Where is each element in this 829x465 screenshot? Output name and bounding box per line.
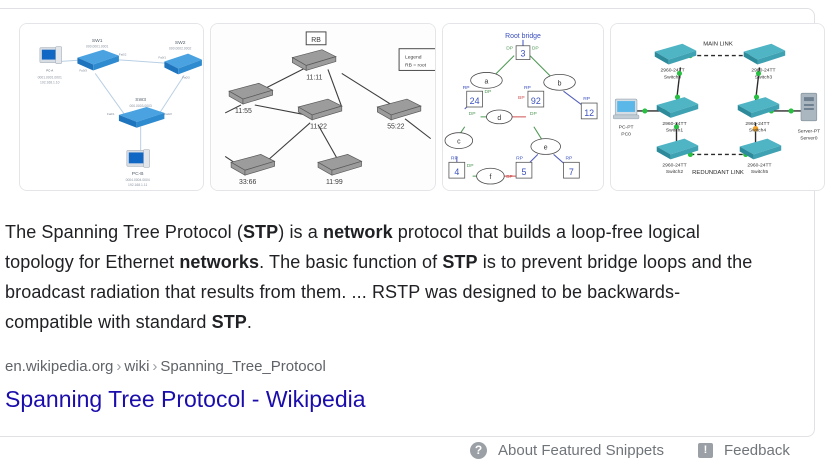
help-circle-icon: ?: [470, 442, 487, 459]
snippet-bold-term: STP: [442, 252, 477, 272]
snippet-bold-term: networks: [179, 252, 259, 272]
svg-text:000.0001.0001: 000.0001.0001: [86, 45, 108, 49]
svg-text:33:66: 33:66: [239, 179, 256, 186]
feedback-button[interactable]: ! Feedback: [698, 442, 790, 459]
svg-text:92: 92: [531, 96, 541, 106]
svg-text:DP: DP: [530, 111, 538, 117]
svg-text:Fa0/3: Fa0/3: [79, 68, 87, 72]
feedback-flag-icon: !: [698, 443, 713, 458]
snippet-bold-term: network: [323, 222, 393, 242]
svg-text:11:22: 11:22: [310, 124, 327, 131]
svg-text:55:22: 55:22: [387, 124, 404, 131]
svg-text:Root bridge: Root bridge: [505, 33, 541, 40]
svg-text:0004.0004.0004: 0004.0004.0004: [126, 178, 150, 182]
svg-text:PC-A: PC-A: [46, 68, 53, 72]
feedback-label: Feedback: [724, 442, 790, 459]
svg-text:RP: RP: [451, 155, 459, 161]
svg-text:Legend: Legend: [405, 55, 422, 61]
svg-text:a: a: [485, 78, 489, 85]
svg-text:24: 24: [470, 96, 480, 106]
svg-text:2960-24TT: 2960-24TT: [662, 121, 686, 127]
thumbnail-root-bridge-priority-diagram[interactable]: Root bridge 3 DP DP 24 RP DP DP: [442, 23, 604, 191]
svg-text:12: 12: [584, 108, 594, 118]
svg-text:2960-24TT: 2960-24TT: [660, 67, 684, 73]
svg-text:192.168.1.11: 192.168.1.11: [128, 183, 147, 187]
svg-text:RP: RP: [516, 155, 524, 161]
svg-text:DP: DP: [532, 46, 540, 52]
thumbnail-root-bridge-mac-tree[interactable]: RB Legend RB = root 11:11 11:55: [210, 23, 436, 191]
svg-text:DP: DP: [506, 46, 514, 52]
svg-text:BP: BP: [518, 95, 525, 101]
svg-text:Fa0/1: Fa0/1: [158, 56, 166, 60]
svg-text:f: f: [489, 174, 491, 181]
svg-text:RB = root: RB = root: [405, 62, 427, 68]
svg-text:Server-PT: Server-PT: [798, 129, 821, 135]
svg-text:DP: DP: [469, 111, 477, 117]
svg-text:e: e: [544, 144, 548, 151]
result-crumb-wiki: wiki: [124, 358, 149, 375]
svg-text:Switch3: Switch3: [755, 74, 773, 80]
svg-text:RP: RP: [583, 96, 591, 102]
svg-text:2960-24TT: 2960-24TT: [747, 162, 771, 168]
result-title-link[interactable]: Spanning Tree Protocol - Wikipedia: [5, 384, 366, 414]
svg-text:PC-B: PC-B: [132, 171, 145, 177]
svg-text:RB: RB: [311, 37, 321, 44]
svg-text:Switch0: Switch0: [664, 74, 682, 80]
svg-text:000.0002.0002: 000.0002.0002: [169, 47, 191, 51]
svg-text:2960-24TT: 2960-24TT: [662, 162, 686, 168]
svg-text:Server0: Server0: [800, 136, 818, 142]
svg-text:Fa0/1: Fa0/1: [107, 112, 115, 116]
svg-text:RP: RP: [565, 155, 573, 161]
svg-text:2960-24TT: 2960-24TT: [745, 121, 769, 127]
svg-text:000.0003.0003: 000.0003.0003: [129, 104, 151, 108]
svg-text:DP: DP: [484, 89, 492, 95]
svg-text:11:99: 11:99: [326, 179, 343, 186]
svg-text:c: c: [457, 139, 461, 146]
thumbnail-packet-tracer-redundant-links[interactable]: MAIN LINK REDUNDANT LINK 2960-24TT Switc…: [610, 23, 825, 191]
svg-text:SW3: SW3: [135, 97, 146, 103]
svg-text:b: b: [558, 80, 562, 87]
svg-text:11:11: 11:11: [306, 74, 322, 81]
snippet-bold-term: STP: [212, 312, 247, 332]
snippet-bold-term: STP: [243, 222, 278, 242]
about-featured-snippets-button[interactable]: ? About Featured Snippets: [470, 442, 664, 459]
featured-snippet-card: PC-A 0001.0001.0001 192.168.1.10 SW1 000…: [0, 8, 815, 437]
svg-text:Switch1: Switch1: [666, 128, 684, 134]
svg-text:Fa0/2: Fa0/2: [164, 112, 172, 116]
result-crumb-page: Spanning_Tree_Protocol: [160, 358, 325, 375]
svg-text:Fa0/3: Fa0/3: [182, 75, 190, 79]
result-domain: en.wikipedia.org: [5, 358, 113, 375]
featured-snippet-screen: PC-A 0001.0001.0001 192.168.1.10 SW1 000…: [0, 0, 829, 465]
breadcrumb-separator-1: ›: [113, 358, 124, 375]
thumbnail-strip: PC-A 0001.0001.0001 192.168.1.10 SW1 000…: [19, 23, 817, 191]
thumbnail-stp-three-switch-topology[interactable]: PC-A 0001.0001.0001 192.168.1.10 SW1 000…: [19, 23, 204, 191]
svg-text:5: 5: [522, 167, 527, 177]
svg-text:BP: BP: [506, 174, 513, 180]
svg-text:2960-24TT: 2960-24TT: [751, 67, 775, 73]
svg-text:PC0: PC0: [621, 132, 631, 138]
svg-text:RP: RP: [463, 85, 471, 91]
svg-text:REDUNDANT LINK: REDUNDANT LINK: [692, 170, 744, 176]
svg-text:192.168.1.10: 192.168.1.10: [40, 80, 60, 84]
svg-text:11:55: 11:55: [235, 108, 252, 115]
svg-text:Fa0/2: Fa0/2: [119, 53, 127, 57]
svg-text:7: 7: [569, 167, 574, 177]
svg-text:PC-PT: PC-PT: [619, 125, 634, 131]
about-featured-snippets-label: About Featured Snippets: [498, 442, 664, 459]
svg-text:RP: RP: [524, 85, 532, 91]
svg-text:d: d: [497, 115, 501, 122]
breadcrumb-separator-2: ›: [149, 358, 160, 375]
svg-text:SW2: SW2: [175, 40, 186, 46]
svg-text:Switch5: Switch5: [751, 169, 769, 175]
svg-text:3: 3: [521, 49, 526, 59]
svg-text:0001.0001.0001: 0001.0001.0001: [38, 75, 62, 79]
svg-text:DP: DP: [467, 163, 475, 169]
svg-text:4: 4: [454, 167, 459, 177]
svg-text:Switch2: Switch2: [666, 169, 684, 175]
snippet-footer: ? About Featured Snippets ! Feedback: [470, 437, 790, 463]
svg-text:SW1: SW1: [92, 38, 103, 44]
svg-text:MAIN LINK: MAIN LINK: [703, 42, 733, 48]
result-breadcrumb[interactable]: en.wikipedia.org›wiki›Spanning_Tree_Prot…: [5, 357, 326, 377]
svg-text:Switch4: Switch4: [749, 128, 767, 134]
snippet-paragraph: The Spanning Tree Protocol (STP) is a ne…: [5, 217, 765, 337]
